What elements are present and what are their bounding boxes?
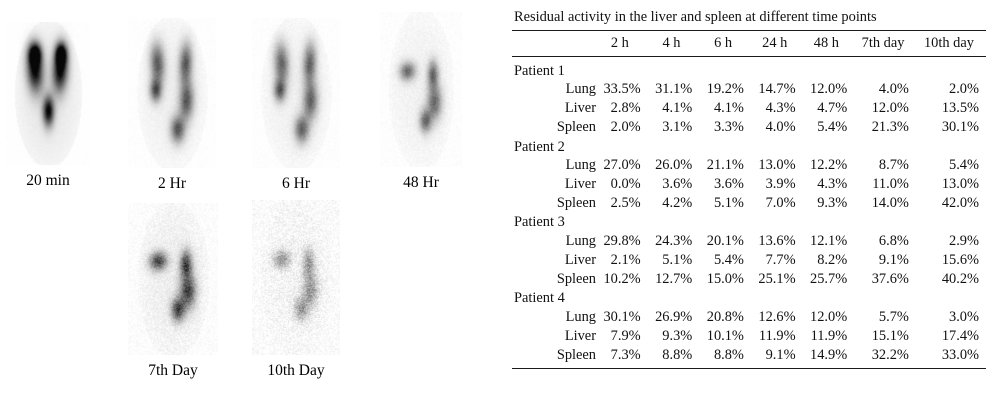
table-row: Spleen2.0%3.1%3.3%4.0%5.4%21.3%30.1% [512, 118, 986, 137]
column-header-7thday: 7th day [854, 31, 916, 56]
scan-label-4: 7th Day [128, 363, 218, 379]
scan-panel-4: 7th Day [128, 203, 218, 379]
cell-value: 27.0% [596, 156, 648, 175]
patient-group-label: Patient 3 [512, 212, 986, 232]
organ-label-spleen: Spleen [512, 270, 596, 289]
cell-value: 13.0% [751, 156, 803, 175]
cell-value: 26.9% [648, 308, 700, 327]
cell-value: 9.1% [751, 346, 803, 365]
scan-image-20min [6, 22, 90, 165]
table-group-row: Patient 1 [512, 61, 986, 81]
cell-value: 11.0% [854, 175, 916, 194]
cell-value: 2.9% [916, 232, 986, 251]
cell-value: 13.5% [916, 99, 986, 118]
cell-value: 14.0% [854, 194, 916, 213]
cell-value: 5.7% [854, 308, 916, 327]
cell-value: 7.9% [596, 327, 648, 346]
cell-value: 9.3% [648, 327, 700, 346]
column-header-24h: 24 h [751, 31, 803, 56]
table-row: Spleen10.2%12.7%15.0%25.1%25.7%37.6%40.2… [512, 270, 986, 289]
cell-value: 3.6% [699, 175, 751, 194]
cell-value: 29.8% [596, 232, 648, 251]
cell-value: 3.0% [916, 308, 986, 327]
cell-value: 2.0% [916, 80, 986, 99]
scan-image-10thday [252, 200, 340, 355]
cell-value: 13.0% [916, 175, 986, 194]
organ-label-liver: Liver [512, 251, 596, 270]
cell-value: 5.4% [803, 118, 855, 137]
cell-value: 42.0% [916, 194, 986, 213]
scan-label-1: 2 Hr [128, 176, 216, 192]
table: 2 h 4 h 6 h 24 h 48 h 7th day 10th day P… [512, 31, 986, 368]
header-corner [512, 31, 596, 56]
cell-value: 7.7% [751, 251, 803, 270]
cell-value: 5.4% [916, 156, 986, 175]
table-row: Spleen2.5%4.2%5.1%7.0%9.3%14.0%42.0% [512, 194, 986, 213]
table-row: Liver2.8%4.1%4.1%4.3%4.7%12.0%13.5% [512, 99, 986, 118]
cell-value: 3.3% [699, 118, 751, 137]
cell-value: 11.9% [803, 327, 855, 346]
table-group-row: Patient 2 [512, 137, 986, 157]
cell-value: 33.0% [916, 346, 986, 365]
scan-image-2hr [128, 18, 216, 168]
cell-value: 33.5% [596, 80, 648, 99]
table-title: Residual activity in the liver and splee… [512, 8, 986, 30]
cell-value: 12.0% [803, 308, 855, 327]
cell-value: 4.0% [751, 118, 803, 137]
column-header-2h: 2 h [596, 31, 648, 56]
scan-panel-3: 48 Hr [380, 12, 462, 191]
patient-group-label: Patient 2 [512, 137, 986, 157]
table-header-row: 2 h 4 h 6 h 24 h 48 h 7th day 10th day [512, 31, 986, 56]
patient-group-label: Patient 1 [512, 61, 986, 81]
scan-panel-5: 10th Day [252, 200, 340, 379]
cell-value: 12.0% [803, 80, 855, 99]
cell-value: 19.2% [699, 80, 751, 99]
scan-image-48hr [380, 12, 462, 167]
scan-image-6hr [252, 18, 340, 168]
cell-value: 25.7% [803, 270, 855, 289]
cell-value: 8.8% [699, 346, 751, 365]
cell-value: 20.8% [699, 308, 751, 327]
cell-value: 31.1% [648, 80, 700, 99]
table-row: Lung33.5%31.1%19.2%14.7%12.0%4.0%2.0% [512, 80, 986, 99]
organ-label-spleen: Spleen [512, 118, 596, 137]
cell-value: 9.3% [803, 194, 855, 213]
cell-value: 21.3% [854, 118, 916, 137]
organ-label-spleen: Spleen [512, 194, 596, 213]
cell-value: 4.3% [751, 99, 803, 118]
cell-value: 26.0% [648, 156, 700, 175]
cell-value: 3.9% [751, 175, 803, 194]
cell-value: 4.1% [699, 99, 751, 118]
patient-group-label: Patient 4 [512, 288, 986, 308]
table-group-row: Patient 4 [512, 288, 986, 308]
cell-value: 13.6% [751, 232, 803, 251]
table-row: Lung27.0%26.0%21.1%13.0%12.2%8.7%5.4% [512, 156, 986, 175]
cell-value: 14.9% [803, 346, 855, 365]
cell-value: 11.9% [751, 327, 803, 346]
cell-value: 4.0% [854, 80, 916, 99]
organ-label-lung: Lung [512, 232, 596, 251]
cell-value: 2.0% [596, 118, 648, 137]
organ-label-liver: Liver [512, 175, 596, 194]
scan-label-2: 6 Hr [252, 176, 340, 192]
cell-value: 4.1% [648, 99, 700, 118]
organ-label-spleen: Spleen [512, 346, 596, 365]
cell-value: 15.6% [916, 251, 986, 270]
cell-value: 12.1% [803, 232, 855, 251]
scintigraphy-image-grid: 20 min 2 Hr 6 Hr 48 Hr 7th Day [0, 0, 500, 400]
table-row: Spleen7.3%8.8%8.8%9.1%14.9%32.2%33.0% [512, 346, 986, 365]
cell-value: 17.4% [916, 327, 986, 346]
table-row: Liver2.1%5.1%5.4%7.7%8.2%9.1%15.6% [512, 251, 986, 270]
cell-value: 5.1% [699, 194, 751, 213]
table-row: Lung29.8%24.3%20.1%13.6%12.1%6.8%2.9% [512, 232, 986, 251]
table-row: Liver0.0%3.6%3.6%3.9%4.3%11.0%13.0% [512, 175, 986, 194]
cell-value: 3.6% [648, 175, 700, 194]
cell-value: 4.2% [648, 194, 700, 213]
table-rule-bottom [512, 368, 986, 369]
cell-value: 2.5% [596, 194, 648, 213]
column-header-4h: 4 h [648, 31, 700, 56]
cell-value: 14.7% [751, 80, 803, 99]
cell-value: 10.2% [596, 270, 648, 289]
organ-label-liver: Liver [512, 327, 596, 346]
column-header-10thday: 10th day [916, 31, 986, 56]
organ-label-liver: Liver [512, 99, 596, 118]
cell-value: 5.4% [699, 251, 751, 270]
cell-value: 37.6% [854, 270, 916, 289]
cell-value: 3.1% [648, 118, 700, 137]
scan-label-3: 48 Hr [380, 175, 462, 191]
cell-value: 12.6% [751, 308, 803, 327]
organ-label-lung: Lung [512, 80, 596, 99]
cell-value: 24.3% [648, 232, 700, 251]
cell-value: 15.1% [854, 327, 916, 346]
cell-value: 8.7% [854, 156, 916, 175]
organ-label-lung: Lung [512, 156, 596, 175]
cell-value: 6.8% [854, 232, 916, 251]
cell-value: 9.1% [854, 251, 916, 270]
cell-value: 32.2% [854, 346, 916, 365]
column-header-6h: 6 h [699, 31, 751, 56]
scan-panel-2: 6 Hr [252, 18, 340, 192]
cell-value: 2.8% [596, 99, 648, 118]
table-row: Liver7.9%9.3%10.1%11.9%11.9%15.1%17.4% [512, 327, 986, 346]
cell-value: 21.1% [699, 156, 751, 175]
cell-value: 12.2% [803, 156, 855, 175]
table-row: Lung30.1%26.9%20.8%12.6%12.0%5.7%3.0% [512, 308, 986, 327]
cell-value: 30.1% [596, 308, 648, 327]
organ-label-lung: Lung [512, 308, 596, 327]
cell-value: 2.1% [596, 251, 648, 270]
scan-image-7thday [128, 203, 218, 355]
scan-panel-1: 2 Hr [128, 18, 216, 192]
cell-value: 7.3% [596, 346, 648, 365]
column-header-48h: 48 h [803, 31, 855, 56]
cell-value: 12.0% [854, 99, 916, 118]
scan-panel-0: 20 min [6, 22, 90, 189]
table-body: Patient 1Lung33.5%31.1%19.2%14.7%12.0%4.… [512, 56, 986, 368]
cell-value: 4.3% [803, 175, 855, 194]
cell-value: 25.1% [751, 270, 803, 289]
cell-value: 40.2% [916, 270, 986, 289]
cell-value: 5.1% [648, 251, 700, 270]
cell-value: 10.1% [699, 327, 751, 346]
cell-value: 8.2% [803, 251, 855, 270]
scan-label-5: 10th Day [252, 363, 340, 379]
residual-activity-table: Residual activity in the liver and splee… [512, 8, 986, 369]
figure-panel: 20 min 2 Hr 6 Hr 48 Hr 7th Day [0, 0, 1000, 400]
cell-value: 7.0% [751, 194, 803, 213]
cell-value: 4.7% [803, 99, 855, 118]
cell-value: 8.8% [648, 346, 700, 365]
table-group-row: Patient 3 [512, 212, 986, 232]
cell-value: 30.1% [916, 118, 986, 137]
table-head: 2 h 4 h 6 h 24 h 48 h 7th day 10th day [512, 31, 986, 56]
cell-value: 0.0% [596, 175, 648, 194]
cell-value: 15.0% [699, 270, 751, 289]
scan-label-0: 20 min [6, 173, 90, 189]
cell-value: 20.1% [699, 232, 751, 251]
cell-value: 12.7% [648, 270, 700, 289]
